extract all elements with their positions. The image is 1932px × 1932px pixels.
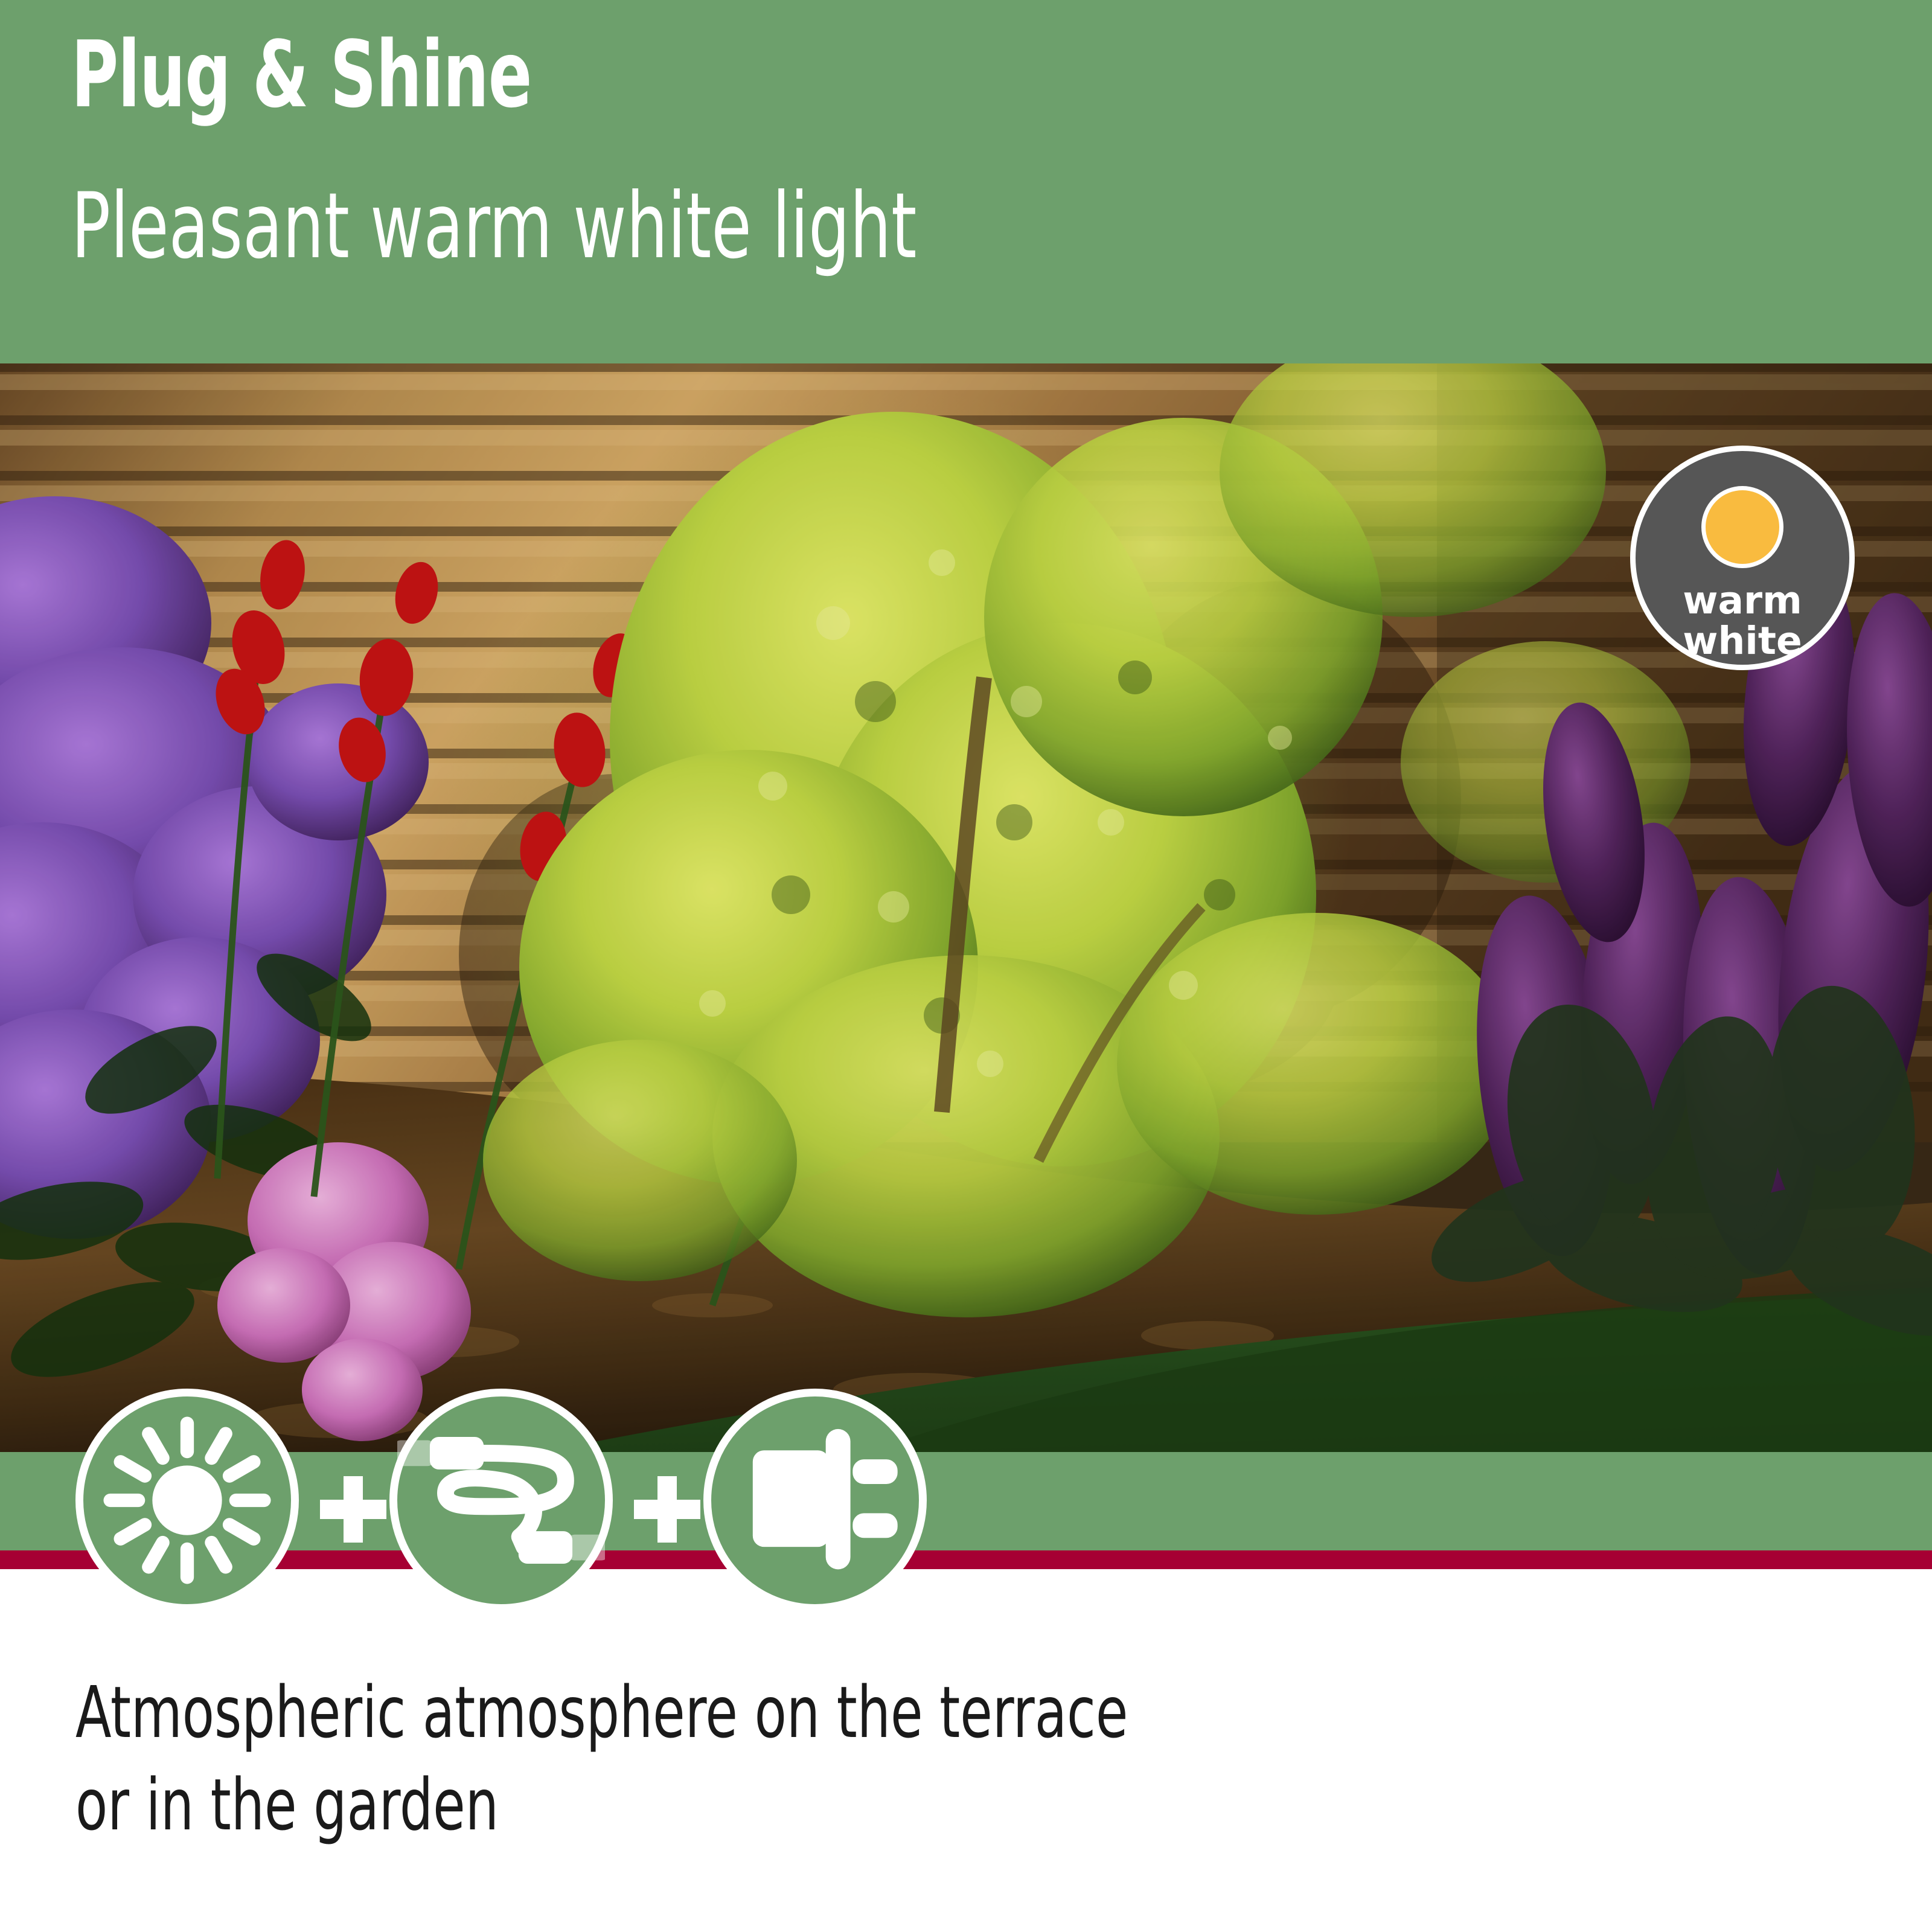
feature-icon-row	[0, 1383, 1932, 1624]
header-banner: Plug & Shine Pleasant warm white light	[0, 0, 1932, 363]
cable-icon	[397, 1396, 605, 1604]
warm-white-badge: warm white	[1630, 446, 1855, 670]
promo-tile: Plug & Shine Pleasant warm white light	[0, 0, 1932, 1932]
sun-icon	[83, 1396, 291, 1604]
plus-separator-2	[634, 1476, 700, 1543]
page-subtitle: Pleasant warm white light	[71, 181, 916, 272]
feature-icon-light[interactable]	[75, 1389, 299, 1612]
caption-line-1: Atmospheric atmosphere on the terrace	[75, 1666, 1128, 1759]
page-title: Plug & Shine	[71, 29, 531, 121]
caption-text: Atmospheric atmosphere on the terrace or…	[75, 1666, 1128, 1852]
feature-icon-cable[interactable]	[389, 1389, 613, 1612]
feature-icon-plug[interactable]	[703, 1389, 927, 1612]
warm-white-color-dot	[1701, 486, 1783, 568]
warm-white-badge-label: warm white	[1636, 580, 1849, 662]
caption-line-2: or in the garden	[75, 1759, 1128, 1851]
badge-label-line1: warm	[1636, 580, 1849, 621]
plus-separator-1	[320, 1476, 386, 1543]
badge-label-line2: white	[1636, 621, 1849, 661]
plug-icon	[711, 1396, 919, 1604]
